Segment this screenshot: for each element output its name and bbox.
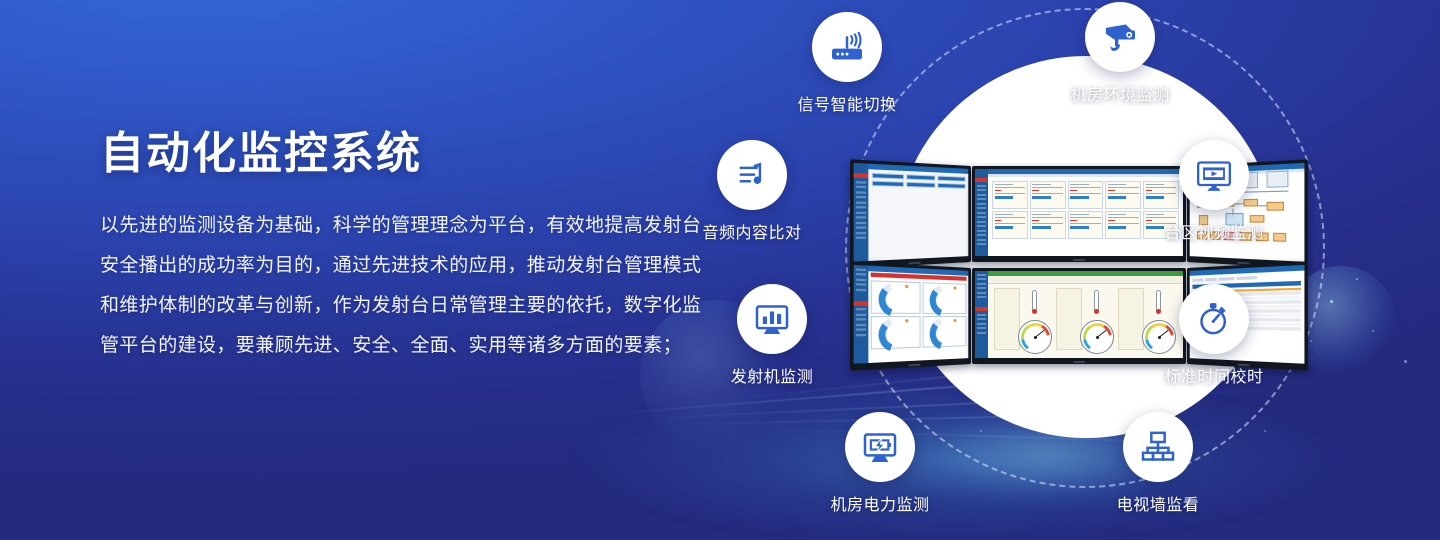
feature-audio-compare[interactable]: 音频内容比对	[677, 140, 827, 243]
music-note-icon	[732, 155, 772, 195]
feature-label: 标准时间校时	[1139, 363, 1289, 387]
thermometer	[1094, 290, 1099, 312]
screen-content-arc-gauges	[868, 266, 968, 363]
monitor-screen-bottom-left	[850, 261, 971, 370]
feature-video-wall[interactable]: 电视墙监看	[1083, 412, 1233, 515]
feature-badge[interactable]	[737, 284, 807, 354]
monitor-video-icon	[1194, 155, 1234, 195]
hero-banner: 自动化监控系统 以先进的监测设备为基础，科学的管理理念为平台，有效地提高发射台安…	[0, 0, 1440, 540]
feature-label: 信号智能切换	[772, 91, 922, 115]
cctv-camera-icon	[1100, 17, 1140, 57]
monitor-screen-top-left	[850, 159, 971, 268]
network-hierarchy-icon	[1138, 427, 1178, 467]
feature-signal-switching[interactable]: 信号智能切换	[772, 12, 922, 115]
feature-area-video[interactable]: 台区视频监测	[1139, 140, 1289, 243]
feature-badge[interactable]	[1085, 2, 1155, 72]
screen-content-bar-charts	[868, 164, 968, 261]
feature-label: 机房环境监测	[1045, 81, 1195, 105]
feature-power-monitor[interactable]: 机房电力监测	[805, 412, 955, 515]
feature-label: 电视墙监看	[1083, 491, 1233, 515]
feature-badge[interactable]	[1179, 284, 1249, 354]
page-title: 自动化监控系统	[100, 128, 710, 180]
pressure-dial	[1080, 320, 1114, 354]
thermometer	[1032, 290, 1037, 312]
feature-badge[interactable]	[845, 412, 915, 482]
screen-sidebar	[854, 163, 869, 262]
screen-sidebar	[975, 169, 988, 256]
feature-hub: 信号智能切换 机房环境监测	[735, 0, 1435, 540]
monitor-bar-chart-icon	[752, 299, 792, 339]
feature-badge[interactable]	[1179, 140, 1249, 210]
stopwatch-icon	[1194, 299, 1234, 339]
pressure-dial	[1018, 320, 1052, 354]
feature-badge[interactable]	[1123, 412, 1193, 482]
screen-sidebar	[854, 265, 869, 364]
feature-room-environment[interactable]: 机房环境监测	[1045, 2, 1195, 105]
feature-label: 台区视频监测	[1139, 219, 1289, 243]
router-wifi-icon	[827, 27, 867, 67]
feature-badge[interactable]	[812, 12, 882, 82]
feature-label: 机房电力监测	[805, 491, 955, 515]
monitor-battery-bolt-icon	[860, 427, 900, 467]
feature-label: 音频内容比对	[677, 219, 827, 243]
screen-sidebar	[975, 271, 988, 358]
feature-label: 发射机监测	[697, 363, 847, 387]
feature-transmitter-monitor[interactable]: 发射机监测	[697, 284, 847, 387]
hero-description: 以先进的监测设备为基础，科学的管理理念为平台，有效地提高发射台安全播出的成功率为…	[100, 206, 710, 366]
hero-copy: 自动化监控系统 以先进的监测设备为基础，科学的管理理念为平台，有效地提高发射台安…	[100, 128, 710, 366]
feature-time-sync[interactable]: 标准时间校时	[1139, 284, 1289, 387]
feature-badge[interactable]	[717, 140, 787, 210]
